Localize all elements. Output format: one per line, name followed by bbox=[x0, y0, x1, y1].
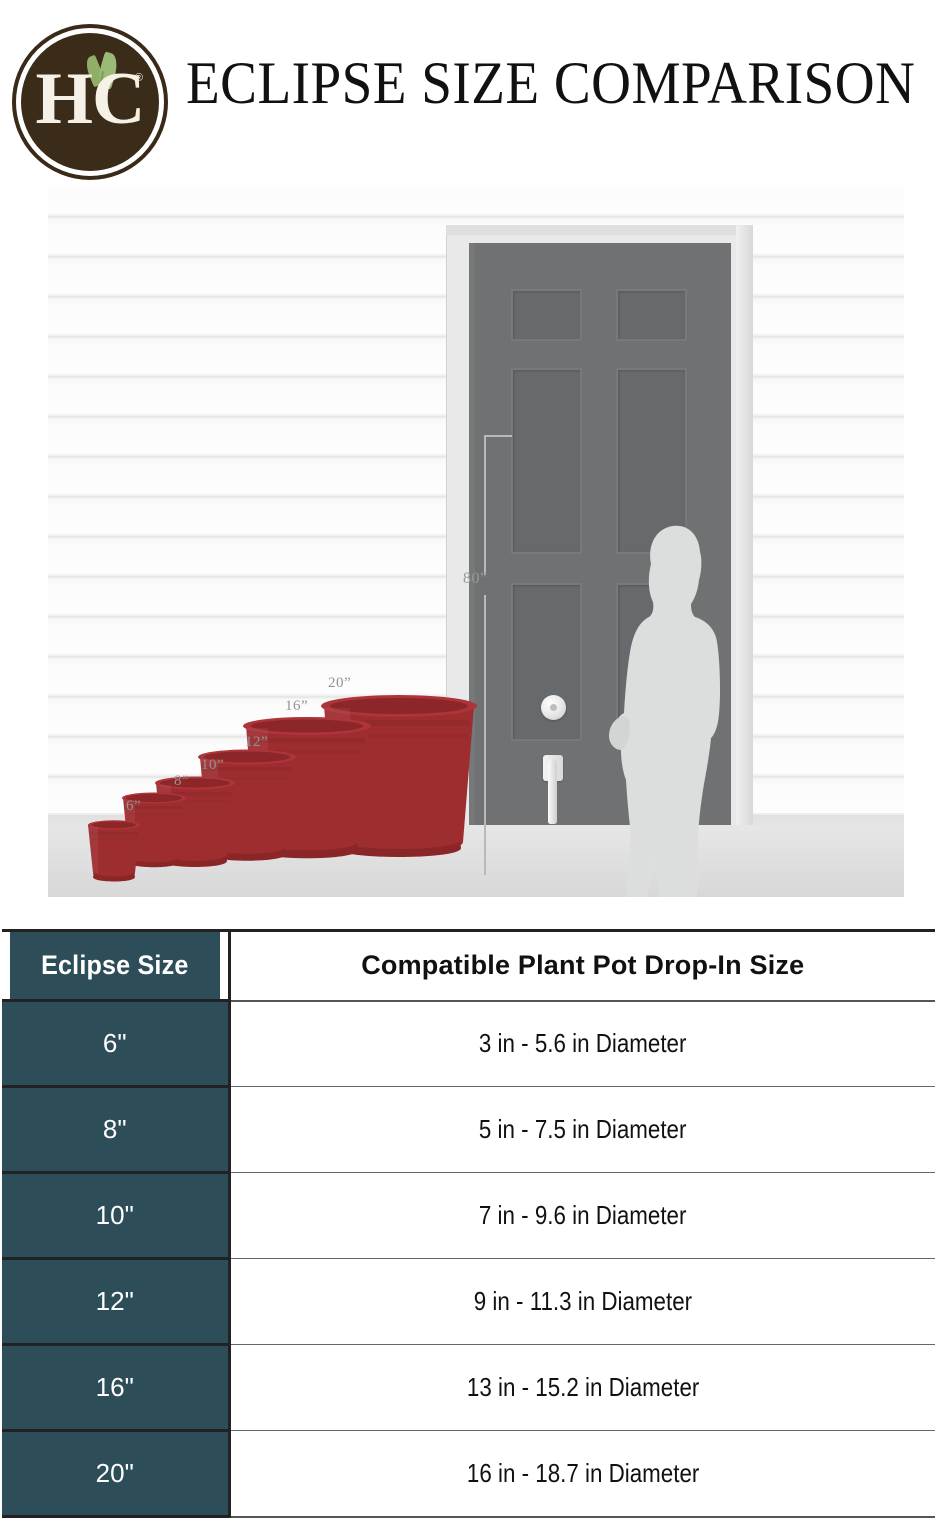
door-frame-header-trim bbox=[446, 225, 753, 235]
dimension-line-upper bbox=[484, 435, 486, 575]
cell-eclipse-size: 16" bbox=[2, 1345, 229, 1431]
door-height-label: 80” bbox=[463, 570, 488, 588]
cell-eclipse-size: 20" bbox=[2, 1431, 229, 1517]
deadbolt-lock-icon bbox=[541, 695, 566, 720]
cell-compatible-size-text: 16 in - 18.7 in Diameter bbox=[467, 1458, 699, 1489]
cell-compatible-size-text: 7 in - 9.6 in Diameter bbox=[479, 1200, 687, 1231]
cell-eclipse-size: 10" bbox=[2, 1173, 229, 1259]
door-panel-top-right bbox=[616, 289, 687, 341]
cell-eclipse-size: 12" bbox=[2, 1259, 229, 1345]
table-body: 6"3 in - 5.6 in Diameter8"5 in - 7.5 in … bbox=[2, 1001, 935, 1517]
cell-compatible-size-text: 9 in - 11.3 in Diameter bbox=[474, 1286, 692, 1317]
registered-trademark-icon: ® bbox=[135, 72, 143, 84]
cell-compatible-size: 16 in - 18.7 in Diameter bbox=[229, 1431, 935, 1517]
pot-label-20in: 20” bbox=[328, 675, 351, 692]
table-row: 20"16 in - 18.7 in Diameter bbox=[2, 1431, 935, 1517]
cell-eclipse-size: 8" bbox=[2, 1087, 229, 1173]
pot-label-6in: 6” bbox=[126, 798, 141, 815]
size-comparison-photo: 80” bbox=[48, 185, 904, 897]
dimension-line-lower bbox=[484, 595, 486, 875]
page-header: HC ® ECLIPSE SIZE COMPARISON bbox=[0, 0, 940, 185]
door-handle-lever bbox=[548, 759, 557, 824]
page-title: ECLIPSE SIZE COMPARISON bbox=[186, 44, 867, 122]
hc-brand-logo: HC ® bbox=[12, 24, 168, 180]
table-row: 10"7 in - 9.6 in Diameter bbox=[2, 1173, 935, 1259]
cell-compatible-size-text: 13 in - 15.2 in Diameter bbox=[467, 1372, 699, 1403]
column-header-compatible-size: Compatible Plant Pot Drop-In Size bbox=[229, 931, 935, 1001]
door-jamb-right bbox=[736, 225, 753, 825]
logo-monogram: HC bbox=[12, 62, 168, 136]
size-spec-table: Eclipse Size Compatible Plant Pot Drop-I… bbox=[2, 929, 935, 1518]
pot-label-10in: 10” bbox=[201, 757, 224, 774]
column-header-eclipse-size: Eclipse Size bbox=[10, 931, 221, 1001]
cell-compatible-size-text: 3 in - 5.6 in Diameter bbox=[479, 1028, 687, 1059]
cell-compatible-size: 13 in - 15.2 in Diameter bbox=[229, 1345, 935, 1431]
cell-compatible-size: 5 in - 7.5 in Diameter bbox=[229, 1087, 935, 1173]
pot-label-12in: 12” bbox=[245, 734, 268, 751]
table-row: 16"13 in - 15.2 in Diameter bbox=[2, 1345, 935, 1431]
planter-pot-6in bbox=[86, 817, 142, 883]
table-row: 12"9 in - 11.3 in Diameter bbox=[2, 1259, 935, 1345]
cell-compatible-size: 9 in - 11.3 in Diameter bbox=[229, 1259, 935, 1345]
table-header-row: Eclipse Size Compatible Plant Pot Drop-I… bbox=[2, 931, 935, 1001]
cell-compatible-size: 3 in - 5.6 in Diameter bbox=[229, 1001, 935, 1087]
cell-eclipse-size: 6" bbox=[2, 1001, 229, 1087]
table-row: 8"5 in - 7.5 in Diameter bbox=[2, 1087, 935, 1173]
pot-label-8in: 8” bbox=[174, 773, 189, 790]
pot-label-16in: 16” bbox=[285, 698, 308, 715]
cell-compatible-size: 7 in - 9.6 in Diameter bbox=[229, 1173, 935, 1259]
door-panel-top-left bbox=[511, 289, 582, 341]
person-silhouette bbox=[603, 518, 733, 897]
table-row: 6"3 in - 5.6 in Diameter bbox=[2, 1001, 935, 1087]
door-panel-middle-left bbox=[511, 368, 582, 554]
dimension-tick-top bbox=[484, 435, 512, 437]
cell-compatible-size-text: 5 in - 7.5 in Diameter bbox=[479, 1114, 687, 1145]
